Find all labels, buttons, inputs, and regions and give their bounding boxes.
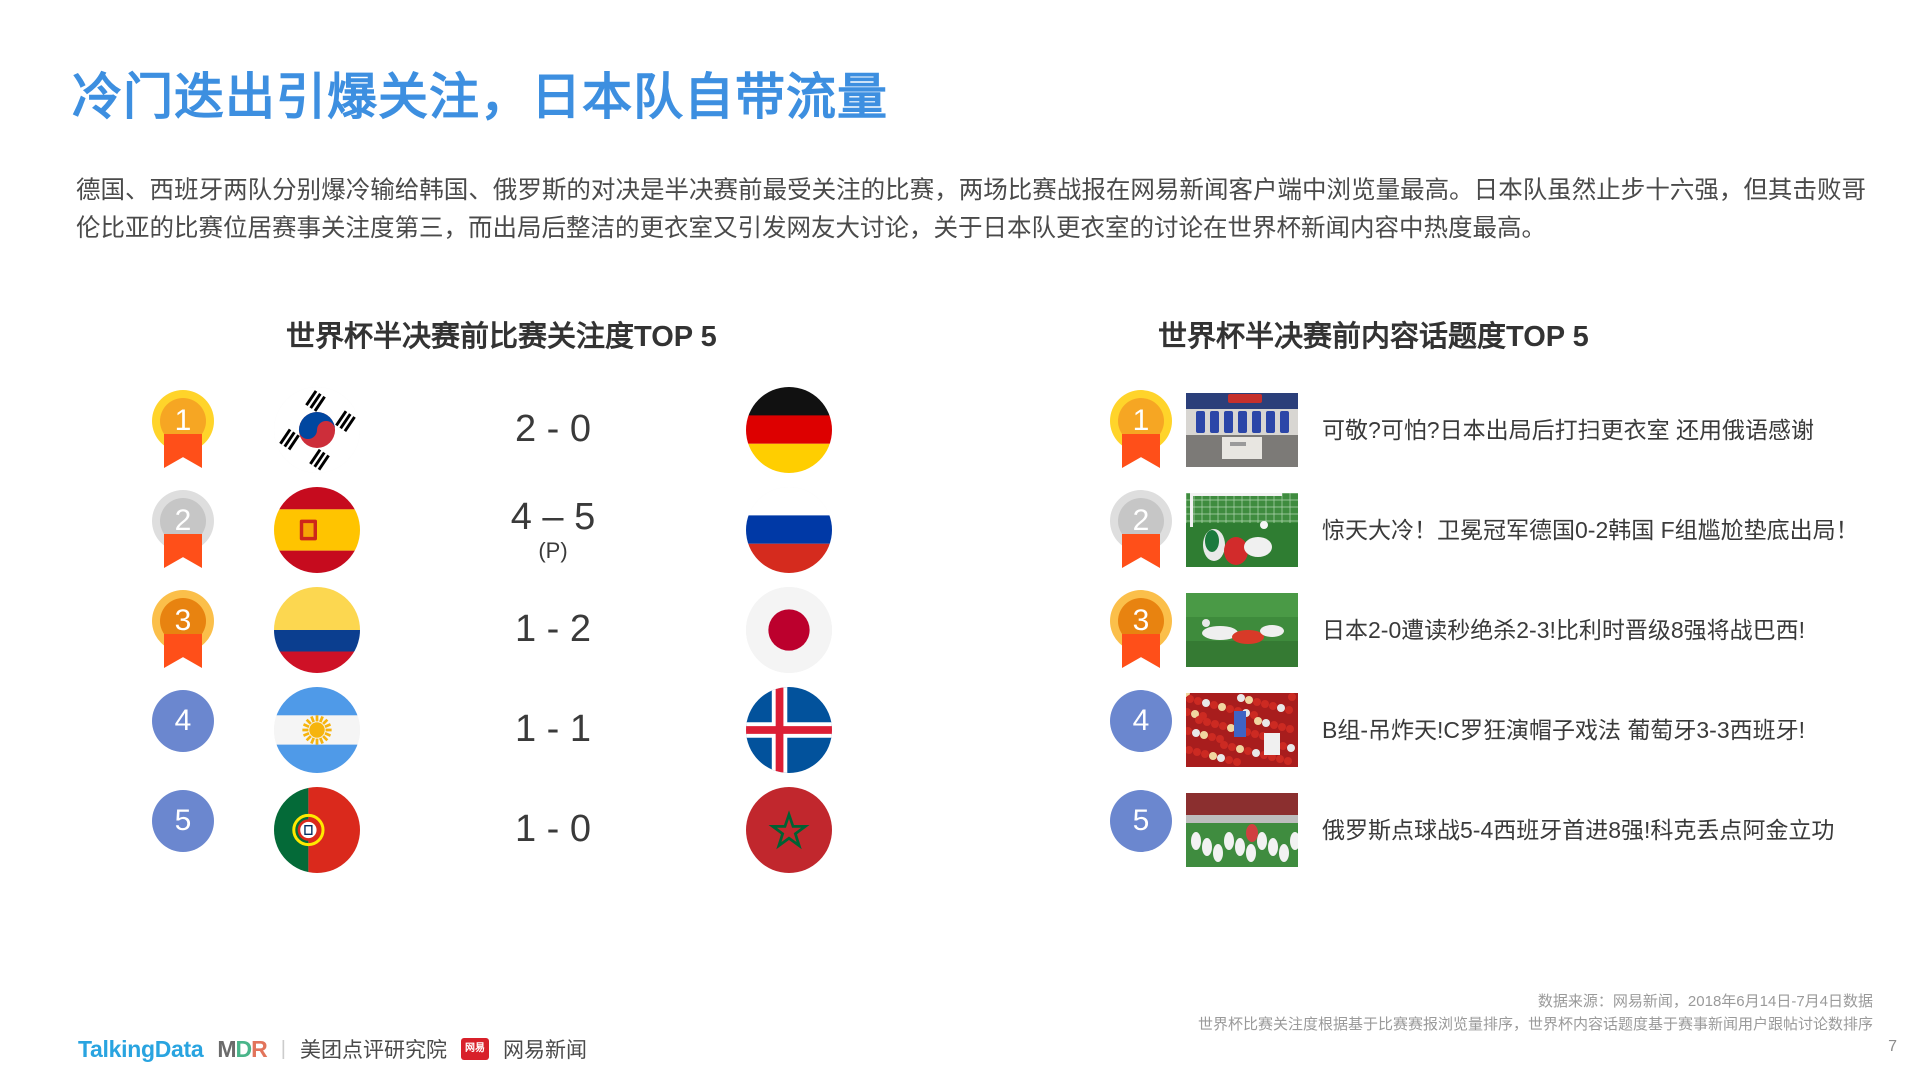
- match-score-value: 1 - 0: [515, 808, 591, 850]
- right-section-heading: 世界杯半决赛前内容话题度TOP 5: [1158, 313, 1589, 355]
- locker-room-photo: [1186, 393, 1298, 467]
- match-score: 1 - 2: [360, 610, 746, 650]
- mdr-logo-m: M: [217, 1036, 235, 1062]
- match-score-value: 1 - 2: [515, 608, 591, 650]
- news-topic-list: 1 可敬?可怕?日本出局后打扫更衣室 还用俄语感谢 2 惊天大冷！卫冕: [1100, 380, 1900, 880]
- footer-logos: TalkingData MDR | 美团点评研究院 网易 网易新闻: [78, 1034, 587, 1064]
- rank-medal-inner: 4: [1118, 698, 1164, 744]
- match-score: 4 – 5 (P): [360, 498, 746, 563]
- rank-medal-inner: 4: [160, 698, 206, 744]
- match-score: 1 - 1: [360, 710, 746, 750]
- argentina-flag: [274, 687, 360, 773]
- match-attention-list: 1 2 - 0 2: [130, 380, 870, 880]
- source-line-2: 世界杯比赛关注度根据基于比赛赛报浏览量排序，世界杯内容话题度基于赛事新闻用户跟帖…: [1198, 1013, 1873, 1036]
- left-section-heading: 世界杯半决赛前比赛关注度TOP 5: [286, 313, 717, 355]
- news-headline[interactable]: 俄罗斯点球战5-4西班牙首进8强!科克丢点阿金立功: [1322, 814, 1900, 846]
- pitch-players-photo: [1186, 593, 1298, 667]
- red-crowd-photo: [1186, 693, 1298, 767]
- data-source-note: 数据来源：网易新闻，2018年6月14日-7月4日数据 世界杯比赛关注度根据基于…: [1198, 990, 1873, 1036]
- rank-number: 2: [175, 504, 192, 538]
- slide-root: 冷门迭出引爆关注，日本队自带流量 德国、西班牙两队分别爆冷输给韩国、俄罗斯的对决…: [0, 0, 1921, 1080]
- news-headline[interactable]: 可敬?可怕?日本出局后打扫更衣室 还用俄语感谢: [1322, 414, 1900, 446]
- logo-separator: |: [281, 1038, 286, 1061]
- netease-badge-icon: 网易: [461, 1038, 489, 1060]
- germany-flag: [746, 387, 832, 473]
- rank-number: 5: [175, 804, 192, 838]
- rank-medal-inner: 5: [1118, 798, 1164, 844]
- rank-ribbon-icon: [1122, 434, 1160, 468]
- news-row[interactable]: 1 可敬?可怕?日本出局后打扫更衣室 还用俄语感谢: [1100, 380, 1900, 480]
- match-rank-cell: 4: [130, 690, 240, 770]
- news-rank-cell: 1: [1100, 390, 1186, 470]
- news-row[interactable]: 4 B组-吊炸天!C罗狂演帽子戏法 葡萄牙3-3西班牙!: [1100, 680, 1900, 780]
- mdr-logo: MDR: [217, 1036, 266, 1063]
- rank-medal-3: 3: [152, 590, 218, 670]
- rank-medal-disc: 5: [1110, 790, 1172, 852]
- rank-number: 3: [1133, 604, 1150, 638]
- news-headline[interactable]: 惊天大冷！卫冕冠军德国0-2韩国 F组尴尬垫底出局！: [1322, 514, 1900, 546]
- korea-south-flag: [274, 387, 360, 473]
- match-row: 3 1 - 2: [130, 580, 870, 680]
- rank-medal-2: 2: [152, 490, 218, 570]
- match-score-value: 4 – 5: [511, 496, 596, 538]
- news-headline[interactable]: B组-吊炸天!C罗狂演帽子戏法 葡萄牙3-3西班牙!: [1322, 714, 1900, 746]
- match-score-value: 2 - 0: [515, 408, 591, 450]
- rank-number: 1: [1133, 404, 1150, 438]
- rank-medal-1: 1: [1110, 390, 1176, 470]
- rank-medal-4: 4: [1110, 690, 1176, 770]
- intro-paragraph: 德国、西班牙两队分别爆冷输给韩国、俄罗斯的对决是半决赛前最受关注的比赛，两场比赛…: [76, 172, 1866, 248]
- rank-ribbon-icon: [164, 634, 202, 668]
- celebration-photo: [1186, 793, 1298, 867]
- rank-medal-2: 2: [1110, 490, 1176, 570]
- match-row: 1 2 - 0: [130, 380, 870, 480]
- match-score-value: 1 - 1: [515, 708, 591, 750]
- news-rank-cell: 2: [1100, 490, 1186, 570]
- rank-number: 2: [1133, 504, 1150, 538]
- rank-medal-disc: 4: [152, 690, 214, 752]
- rank-number: 5: [1133, 804, 1150, 838]
- news-rank-cell: 4: [1100, 690, 1186, 770]
- colombia-flag: [274, 587, 360, 673]
- rank-medal-inner: 5: [160, 798, 206, 844]
- news-rank-cell: 5: [1100, 790, 1186, 870]
- page-title: 冷门迭出引爆关注，日本队自带流量: [72, 57, 888, 129]
- rank-ribbon-icon: [164, 434, 202, 468]
- rank-medal-1: 1: [152, 390, 218, 470]
- match-row: 2 4 – 5 (P): [130, 480, 870, 580]
- talkingdata-logo: TalkingData: [78, 1036, 203, 1063]
- match-rank-cell: 1: [130, 390, 240, 470]
- meituan-research-logo: 美团点评研究院: [300, 1034, 447, 1064]
- japan-flag: [746, 587, 832, 673]
- news-headline[interactable]: 日本2-0遭读秒绝杀2-3!比利时晋级8强将战巴西!: [1322, 614, 1900, 646]
- news-row[interactable]: 2 惊天大冷！卫冕冠军德国0-2韩国 F组尴尬垫底出局！: [1100, 480, 1900, 580]
- mdr-logo-d: D: [236, 1036, 252, 1062]
- rank-medal-disc: 4: [1110, 690, 1172, 752]
- match-row: 5 1 - 0: [130, 780, 870, 880]
- news-rank-cell: 3: [1100, 590, 1186, 670]
- rank-number: 4: [1133, 704, 1150, 738]
- match-rank-cell: 2: [130, 490, 240, 570]
- news-row[interactable]: 3 日本2-0遭读秒绝杀2-3!比利时晋级8强将战巴西!: [1100, 580, 1900, 680]
- rank-ribbon-icon: [164, 534, 202, 568]
- match-rank-cell: 3: [130, 590, 240, 670]
- rank-ribbon-icon: [1122, 534, 1160, 568]
- rank-medal-5: 5: [1110, 790, 1176, 870]
- match-rank-cell: 5: [130, 790, 240, 870]
- netease-news-logo: 网易新闻: [503, 1034, 587, 1064]
- portugal-flag: [274, 787, 360, 873]
- penalty-note: (P): [360, 539, 746, 562]
- rank-number: 4: [175, 704, 192, 738]
- iceland-flag: [746, 687, 832, 773]
- goal-save-photo: [1186, 493, 1298, 567]
- rank-ribbon-icon: [1122, 634, 1160, 668]
- rank-medal-4: 4: [152, 690, 218, 770]
- spain-flag: [274, 487, 360, 573]
- mdr-logo-r: R: [251, 1036, 267, 1062]
- russia-flag: [746, 487, 832, 573]
- source-line-1: 数据来源：网易新闻，2018年6月14日-7月4日数据: [1198, 990, 1873, 1013]
- match-score: 2 - 0: [360, 410, 746, 450]
- rank-medal-disc: 5: [152, 790, 214, 852]
- morocco-flag: [746, 787, 832, 873]
- news-row[interactable]: 5 俄罗斯点球战5-4西班牙首进8强!科克丢点阿金立功: [1100, 780, 1900, 880]
- rank-medal-3: 3: [1110, 590, 1176, 670]
- rank-medal-5: 5: [152, 790, 218, 870]
- match-score: 1 - 0: [360, 810, 746, 850]
- rank-number: 1: [175, 404, 192, 438]
- match-row: 4 1 - 1: [130, 680, 870, 780]
- rank-number: 3: [175, 604, 192, 638]
- page-number: 7: [1888, 1038, 1897, 1056]
